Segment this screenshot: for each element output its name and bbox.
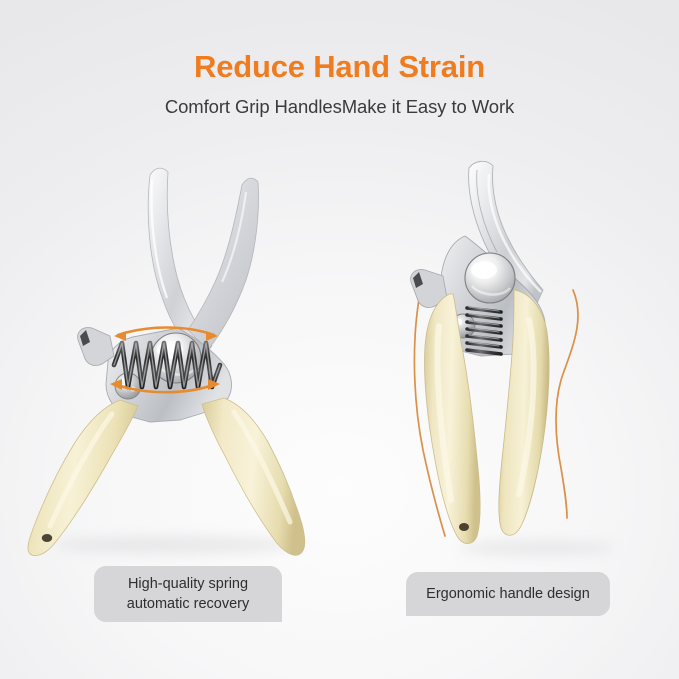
page-title: Reduce Hand Strain <box>0 50 679 84</box>
right-caption-pill: Ergonomic handle design <box>406 572 610 616</box>
left-caption-line-2: automatic recovery <box>127 594 250 614</box>
right-caption-text: Ergonomic handle design <box>426 584 590 604</box>
pruning-shears-closed-svg <box>405 150 679 570</box>
right-tool-shadow <box>459 540 615 556</box>
right-product-illustration <box>405 150 679 570</box>
pivot-bolt-highlight <box>471 261 497 279</box>
left-caption-line-1: High-quality spring <box>127 574 250 594</box>
left-handle-grip <box>28 400 138 556</box>
pruning-shears-open-svg <box>0 150 360 570</box>
left-caption-pill: High-quality spring automatic recovery <box>94 566 282 622</box>
header-block: Reduce Hand Strain Comfort Grip HandlesM… <box>0 50 679 118</box>
contour-curve-right <box>556 290 578 518</box>
left-tool-shadow <box>55 536 295 554</box>
left-product-illustration <box>0 150 360 570</box>
page-subtitle: Comfort Grip HandlesMake it Easy to Work <box>0 96 679 118</box>
left-handle-hang-hole <box>459 523 469 531</box>
left-handle-hang-hole <box>42 534 52 542</box>
right-handle-grip <box>202 398 305 555</box>
infographic-canvas: Reduce Hand Strain Comfort Grip HandlesM… <box>0 0 679 679</box>
counter-blade-hook <box>188 178 259 350</box>
